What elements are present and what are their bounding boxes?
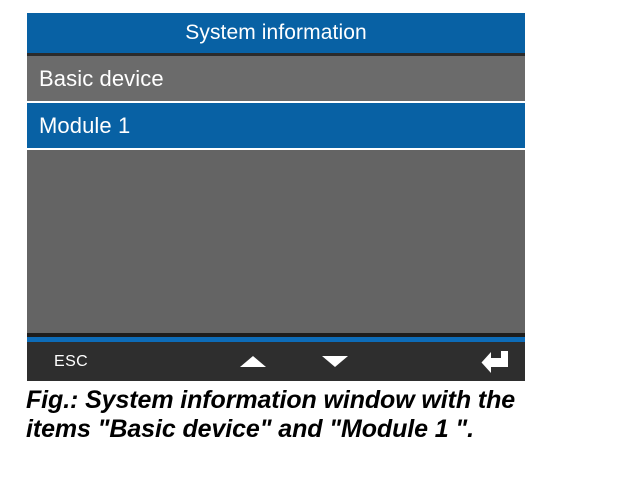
figure-caption: Fig.: System information window with the… [26,386,616,444]
page-title: System information [185,21,367,45]
menu-list: Basic device Module 1 [27,56,525,328]
scroll-up-button[interactable] [225,342,281,381]
list-item-label: Basic device [39,66,164,92]
triangle-down-icon [322,356,348,367]
caption-line-1: Fig.: System information window with the [26,386,616,415]
scroll-down-button[interactable] [307,342,363,381]
bottom-toolbar: ESC [27,342,525,381]
list-item-label: Module 1 [39,113,130,139]
device-screen-panel: System information Basic device Module 1… [27,13,525,381]
list-item-basic-device[interactable]: Basic device [27,56,525,103]
esc-button[interactable]: ESC [54,342,88,381]
enter-button[interactable] [467,342,523,381]
esc-button-label: ESC [54,353,88,371]
list-item-module-1[interactable]: Module 1 [27,103,525,150]
window-title-bar: System information [27,13,525,53]
caption-line-2: items "Basic device" and "Module 1 ". [26,415,616,444]
enter-return-icon [480,349,510,375]
triangle-up-icon [240,356,266,367]
